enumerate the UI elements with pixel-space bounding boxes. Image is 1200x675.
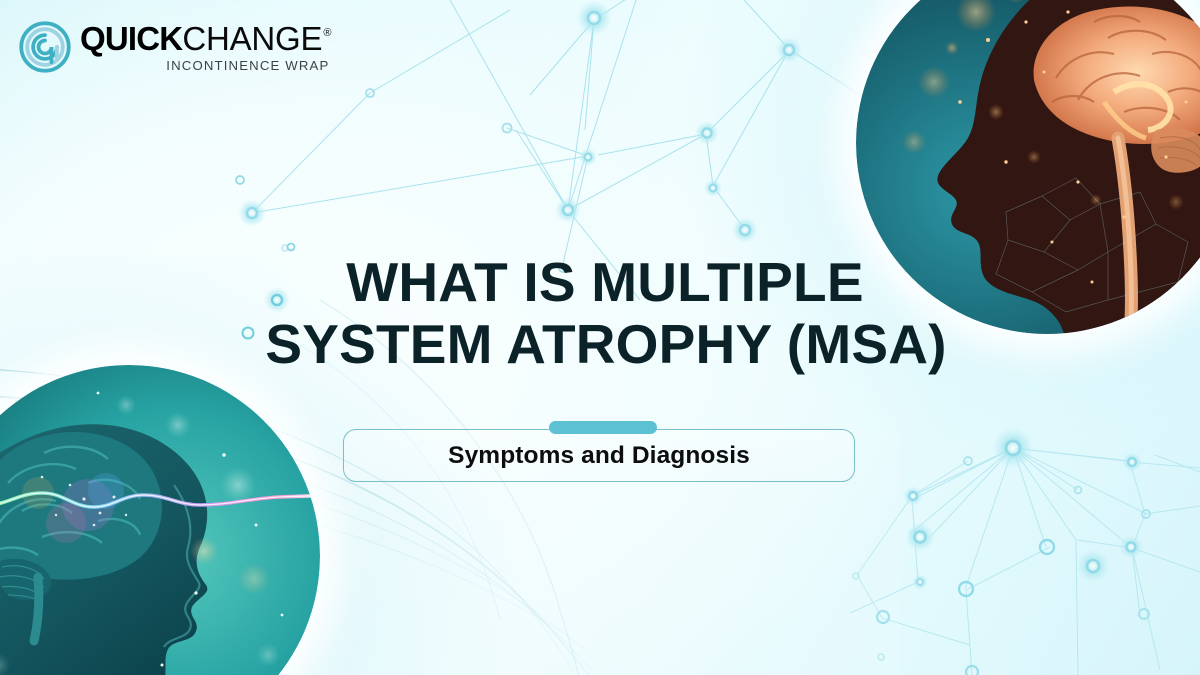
registered-trademark-icon: ® xyxy=(323,28,331,39)
brand-logo[interactable]: QUICK CHANGE ® INCONTINENCE WRAP xyxy=(18,20,331,74)
logo-name-light: CHANGE xyxy=(182,22,322,55)
quickchange-spiral-icon xyxy=(18,20,72,74)
logo-tagline: INCONTINENCE WRAP xyxy=(166,59,329,72)
logo-text-block: QUICK CHANGE ® INCONTINENCE WRAP xyxy=(80,22,331,72)
subtitle-box: Symptoms and Diagnosis xyxy=(343,429,855,482)
logo-name-bold: QUICK xyxy=(80,22,182,55)
subtitle-text: Symptoms and Diagnosis xyxy=(448,442,750,470)
banner-graphic: QUICK CHANGE ® INCONTINENCE WRAP WHAT IS… xyxy=(0,0,1200,675)
logo-wordmark: QUICK CHANGE ® xyxy=(80,22,331,55)
subtitle-accent-bar xyxy=(549,421,657,434)
